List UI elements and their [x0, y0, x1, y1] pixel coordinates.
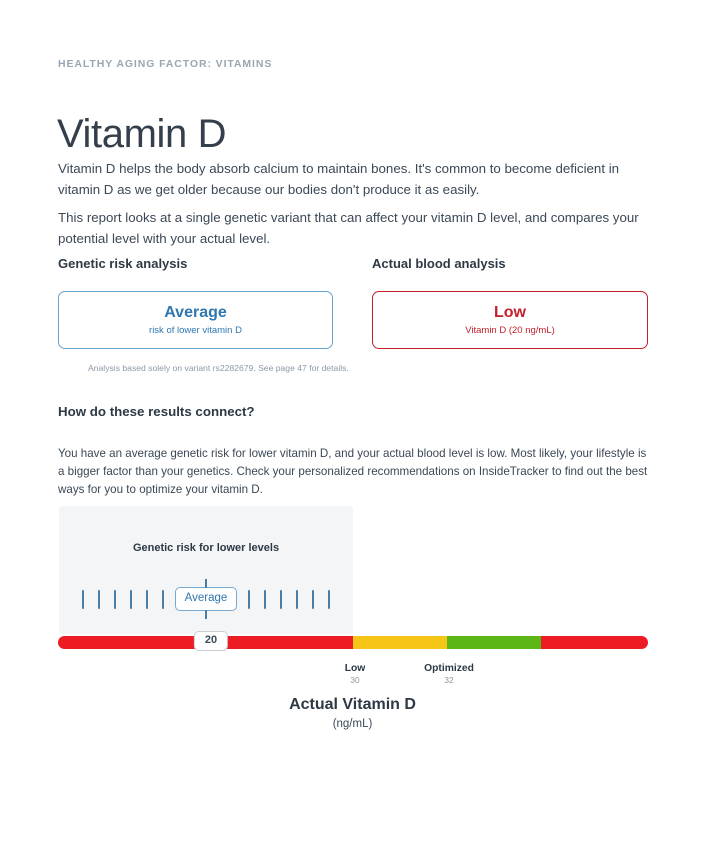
bar-tick-optimized-name: Optimized [424, 662, 474, 675]
blood-result-value: Low [494, 303, 526, 323]
badge-stem-top-icon [205, 579, 207, 588]
scale-tick [280, 590, 282, 609]
genetic-panel-title: Genetic risk for lower levels [59, 542, 353, 554]
scale-tick [162, 590, 164, 609]
actual-value-marker-label: 20 [205, 634, 217, 646]
bar-tick-low: Low 30 [345, 662, 366, 686]
genetic-analysis-label: Genetic risk analysis [58, 256, 187, 271]
connect-section-title: How do these results connect? [58, 404, 255, 419]
genetic-average-badge-label: Average [185, 592, 228, 604]
vitamin-d-color-bar [58, 636, 648, 649]
scale-tick [248, 590, 250, 609]
report-page: HEALTHY AGING FACTOR: VITAMINS Vitamin D… [0, 0, 705, 845]
connect-section-body: You have an average genetic risk for low… [58, 445, 652, 499]
intro-paragraph-1: Vitamin D helps the body absorb calcium … [58, 158, 648, 200]
bar-tick-low-value: 30 [345, 675, 366, 686]
scale-tick [130, 590, 132, 609]
scale-tick [312, 590, 314, 609]
scale-tick [328, 590, 330, 609]
blood-analysis-label: Actual blood analysis [372, 256, 506, 271]
genetic-risk-panel: Genetic risk for lower levels Average [59, 506, 353, 634]
chart-units: (ng/mL) [0, 718, 705, 730]
genetic-risk-sublabel: risk of lower vitamin D [149, 324, 242, 338]
scale-tick [98, 590, 100, 609]
bar-tick-low-name: Low [345, 662, 366, 675]
genetic-average-badge[interactable]: Average [175, 587, 238, 611]
chart-title: Actual Vitamin D [0, 696, 705, 714]
analysis-footnote: Analysis based solely on variant rs22826… [88, 363, 349, 373]
genetic-tick-scale: Average [59, 584, 353, 614]
scale-tick [114, 590, 116, 609]
bar-tick-optimized: Optimized 32 [424, 662, 474, 686]
blood-result-sublabel: Vitamin D (20 ng/mL) [465, 324, 555, 338]
scale-tick [146, 590, 148, 609]
page-title: Vitamin D [57, 112, 226, 157]
scale-tick [296, 590, 298, 609]
bar-segment-optimized [447, 636, 541, 649]
blood-result-card[interactable]: Low Vitamin D (20 ng/mL) [372, 291, 648, 349]
actual-value-marker[interactable]: 20 [194, 631, 228, 651]
intro-paragraph-2: This report looks at a single genetic va… [58, 207, 648, 249]
scale-tick [264, 590, 266, 609]
genetic-risk-card[interactable]: Average risk of lower vitamin D [58, 291, 333, 349]
scale-tick [82, 590, 84, 609]
genetic-risk-value: Average [164, 303, 227, 323]
eyebrow-label: HEALTHY AGING FACTOR: VITAMINS [58, 58, 272, 70]
bar-segment-low [353, 636, 447, 649]
bar-tick-optimized-value: 32 [424, 675, 474, 686]
badge-stem-bottom-icon [205, 610, 207, 619]
